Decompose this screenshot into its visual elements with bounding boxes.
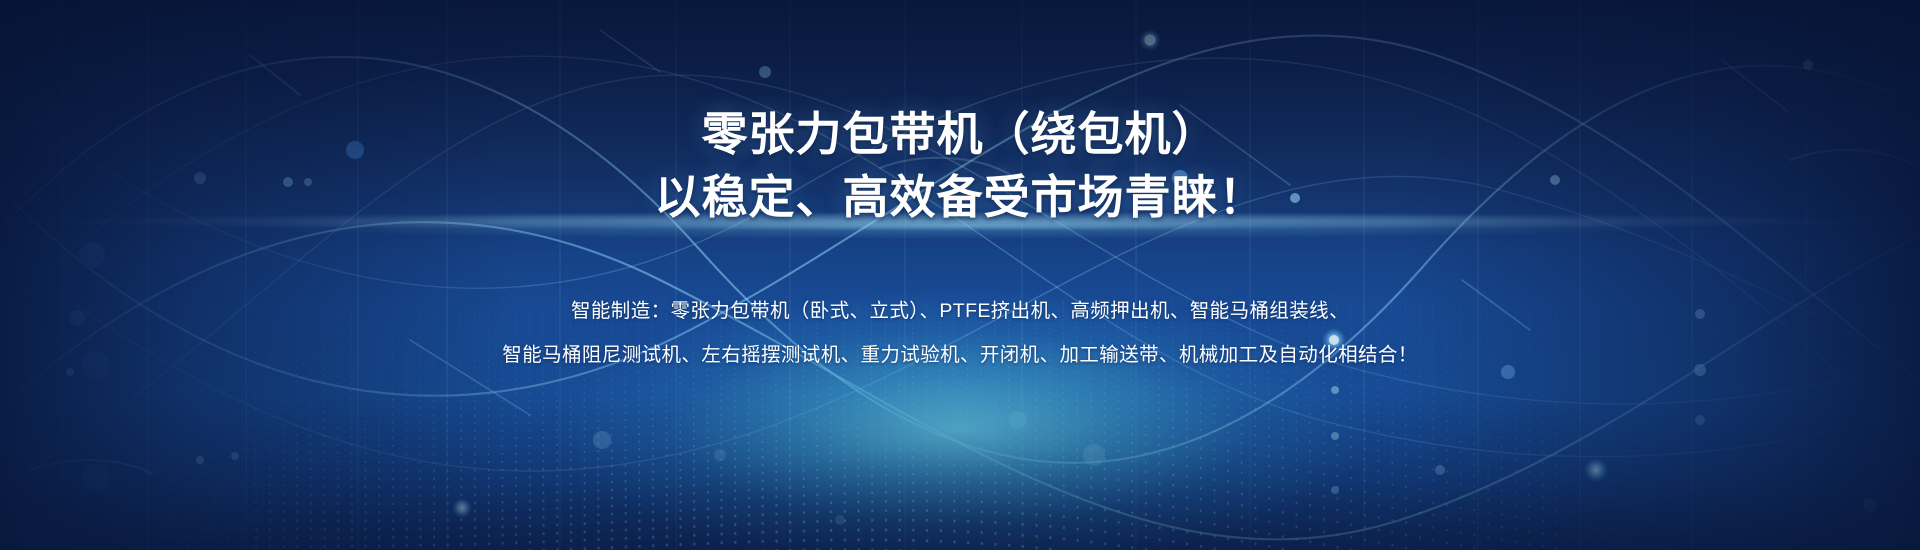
- headline-line-2: 以稳定、高效备受市场青睐！: [655, 166, 1266, 229]
- page-title: 零张力包带机（绕包机） 以稳定、高效备受市场青睐！: [655, 103, 1266, 229]
- hero-banner: 零张力包带机（绕包机） 以稳定、高效备受市场青睐！ 智能制造：零张力包带机（卧式…: [0, 0, 1920, 550]
- banner-content: 零张力包带机（绕包机） 以稳定、高效备受市场青睐！ 智能制造：零张力包带机（卧式…: [0, 0, 1920, 550]
- headline-line-1: 零张力包带机（绕包机）: [655, 103, 1266, 166]
- subtitle-line-1: 智能制造：零张力包带机（卧式、立式）、PTFE挤出机、高频押出机、智能马桶组装线…: [502, 290, 1417, 334]
- subtitle-line-2: 智能马桶阻尼测试机、左右摇摆测试机、重力试验机、开闭机、加工输送带、机械加工及自…: [502, 334, 1417, 378]
- banner-subtitle: 智能制造：零张力包带机（卧式、立式）、PTFE挤出机、高频押出机、智能马桶组装线…: [502, 290, 1417, 378]
